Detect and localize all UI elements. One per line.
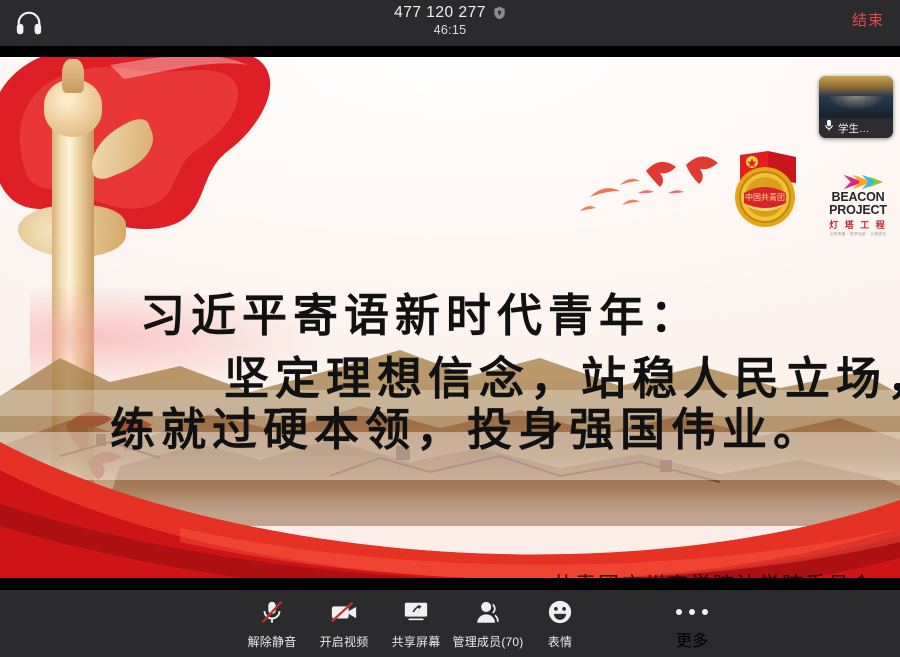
video-muted-icon: [329, 597, 359, 627]
toolbar-items: 解除静音 开启视频: [236, 597, 596, 650]
emblem-text: 中国共青团: [745, 192, 785, 202]
meeting-id-row: 477 120 277: [394, 4, 506, 22]
meeting-info: 477 120 277 46:15: [0, 4, 900, 37]
meeting-timer: 46:15: [0, 23, 900, 37]
manage-participants-icon: [474, 597, 502, 627]
microphone-muted-icon: [258, 597, 286, 627]
manage-participants-button[interactable]: 管理成员(70): [452, 597, 524, 650]
self-view-thumbnail[interactable]: 学生…: [819, 76, 893, 138]
beacon-ribbon-icon: [812, 173, 900, 191]
start-video-label: 开启视频: [320, 633, 369, 650]
org-line-1: 共青团广州商学院法学院委员会: [552, 569, 874, 578]
poster-image: 中国共青团 BEACON PROJECT 灯 塔 工 程 点亮青春 · 筑梦远航…: [0, 57, 900, 578]
shared-content-area[interactable]: 中国共青团 BEACON PROJECT 灯 塔 工 程 点亮青春 · 筑梦远航…: [0, 57, 900, 578]
poster-line-3: 练就过硬本领，投身强国伟业。: [110, 393, 824, 458]
emoji-icon: [547, 597, 573, 627]
youth-league-emblem: 中国共青团: [722, 145, 808, 231]
beacon-en-line1: BEACON: [812, 191, 900, 204]
emoji-button[interactable]: 表情: [524, 597, 596, 650]
beacon-cn-label: 灯 塔 工 程: [812, 218, 900, 231]
unmute-button[interactable]: 解除静音: [236, 597, 308, 650]
unmute-label: 解除静音: [248, 633, 297, 650]
meeting-toolbar: 解除静音 开启视频: [0, 590, 900, 657]
self-view-name: 学生…: [838, 121, 870, 136]
self-view-video: [819, 76, 893, 118]
end-meeting-button[interactable]: 结束: [852, 9, 884, 30]
top-bar: 477 120 277 46:15 结束: [0, 0, 900, 46]
more-dots-icon: [676, 597, 708, 627]
headset-icon[interactable]: [14, 9, 44, 37]
poster-line-1: 习近平寄语新时代青年：: [140, 279, 701, 344]
beacon-en-line2: PROJECT: [812, 204, 900, 217]
microphone-icon: [824, 119, 834, 137]
emoji-label: 表情: [548, 633, 572, 650]
shield-lock-icon: [493, 6, 506, 20]
beacon-subtitle: 点亮青春 · 筑梦远航 · 引领成长: [812, 232, 900, 237]
share-screen-label: 共享屏幕: [392, 633, 441, 650]
more-button[interactable]: 更多: [676, 597, 708, 651]
screen-share-icon: [401, 597, 431, 627]
share-screen-button[interactable]: 共享屏幕: [380, 597, 452, 650]
self-view-label-bar: 学生…: [819, 118, 893, 138]
manage-participants-label: 管理成员(70): [453, 633, 524, 650]
beacon-project-logo: BEACON PROJECT 灯 塔 工 程 点亮青春 · 筑梦远航 · 引领成…: [812, 173, 900, 243]
more-label: 更多: [676, 627, 708, 651]
column-cap-ornament: [62, 59, 84, 93]
start-video-button[interactable]: 开启视频: [308, 597, 380, 650]
bird-flock-icon: [560, 149, 720, 230]
zoom-meeting-screen: 477 120 277 46:15 结束: [0, 0, 900, 657]
meeting-id: 477 120 277: [394, 4, 486, 22]
